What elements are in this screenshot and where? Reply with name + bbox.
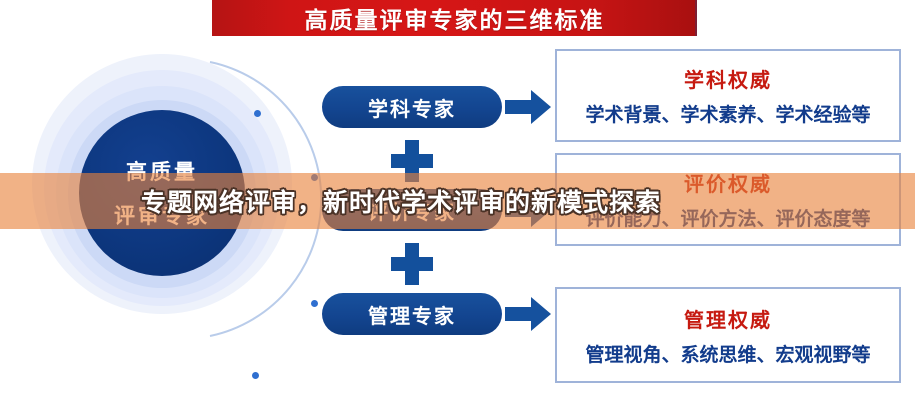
arrow-right-icon: [505, 297, 551, 331]
pill-management-expert[interactable]: 管理专家: [322, 293, 502, 335]
card-management-authority-title: 管理权威: [684, 304, 772, 333]
infographic-canvas: 高质量评审专家的三维标准 高质量 评审专家 学科专家 评价专家 管理专家: [0, 0, 915, 400]
orbit-dot-4: [252, 372, 259, 379]
arrow-right-icon: [505, 90, 551, 124]
pill-subject-expert[interactable]: 学科专家: [322, 86, 502, 128]
title-banner: 高质量评审专家的三维标准: [212, 0, 697, 36]
card-management-authority-body: 管理视角、系统思维、宏观视野等: [585, 340, 870, 367]
orbit-dot-1: [254, 110, 261, 117]
banner-title: 高质量评审专家的三维标准: [305, 1, 605, 35]
orbit-dot-3: [311, 300, 318, 307]
card-subject-authority: 学科权威 学术背景、学术素养、学术经验等: [555, 49, 901, 142]
card-subject-authority-title: 学科权威: [684, 64, 772, 93]
pill-management-expert-label: 管理专家: [368, 300, 456, 329]
caption-overlay-text: 专题网络评审，新时代学术评审的新模式探索: [0, 173, 915, 229]
pill-subject-expert-label: 学科专家: [368, 93, 456, 122]
plus-icon: [391, 243, 433, 285]
card-management-authority: 管理权威 管理视角、系统思维、宏观视野等: [555, 287, 901, 383]
card-subject-authority-body: 学术背景、学术素养、学术经验等: [585, 100, 870, 127]
